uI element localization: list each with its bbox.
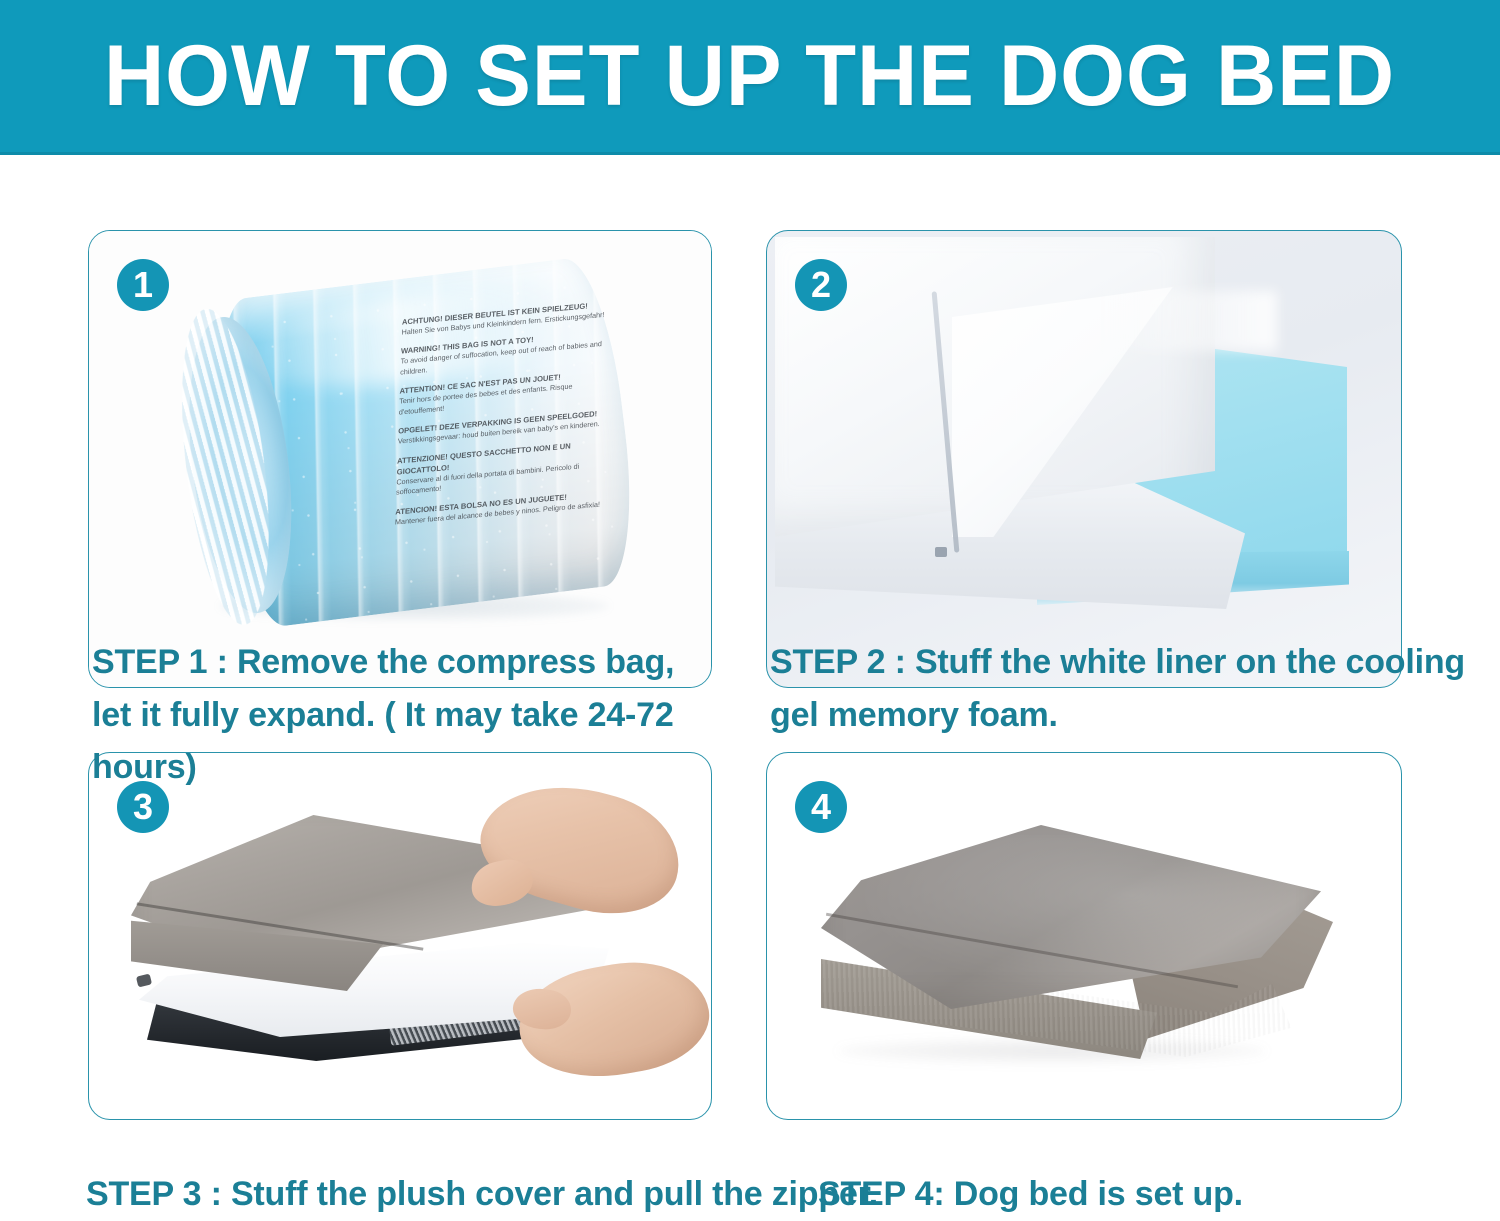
step-1-photo: ACHTUNG! DIESER BEUTEL IST KEIN SPIELZEU… xyxy=(88,230,712,688)
step-1-caption: STEP 1 : Remove the compress bag, let it… xyxy=(92,636,772,794)
page-title: HOW TO SET UP THE DOG BED xyxy=(104,33,1395,119)
step-number-badge-4: 4 xyxy=(795,781,847,833)
step-number-badge-2: 2 xyxy=(795,259,847,311)
compress-bag-scene: ACHTUNG! DIESER BEUTEL IST KEIN SPIELZEU… xyxy=(89,231,711,687)
step-panel-4: 4 xyxy=(766,752,1402,1120)
step-panel-3: 3 xyxy=(88,752,712,1120)
liner-over-foam-scene xyxy=(767,231,1401,687)
step-panel-2: 2 xyxy=(766,230,1402,688)
step-3-caption: STEP 3 : Stuff the plush cover and pull … xyxy=(86,1168,878,1221)
step-2-caption: STEP 2 : Stuff the white liner on the co… xyxy=(770,636,1470,741)
cover-zipper-pull xyxy=(136,973,152,987)
liner-zipper-pull xyxy=(935,547,947,557)
step-number-badge-3: 3 xyxy=(117,781,169,833)
step-4-photo: 4 xyxy=(766,752,1402,1120)
step-2-photo: 2 xyxy=(766,230,1402,688)
liner-highlight xyxy=(1097,291,1277,351)
step-number-badge-1: 1 xyxy=(117,259,169,311)
stuff-cover-scene xyxy=(89,753,711,1119)
step-panel-1: ACHTUNG! DIESER BEUTEL IST KEIN SPIELZEU… xyxy=(88,230,712,688)
step-4-caption: STEP 4: Dog bed is set up. xyxy=(818,1168,1243,1221)
finished-bed-scene xyxy=(767,753,1401,1119)
header-banner: HOW TO SET UP THE DOG BED xyxy=(0,0,1500,155)
compressed-roll: ACHTUNG! DIESER BEUTEL IST KEIN SPIELZEU… xyxy=(167,253,656,636)
step-3-photo: 3 xyxy=(88,752,712,1120)
